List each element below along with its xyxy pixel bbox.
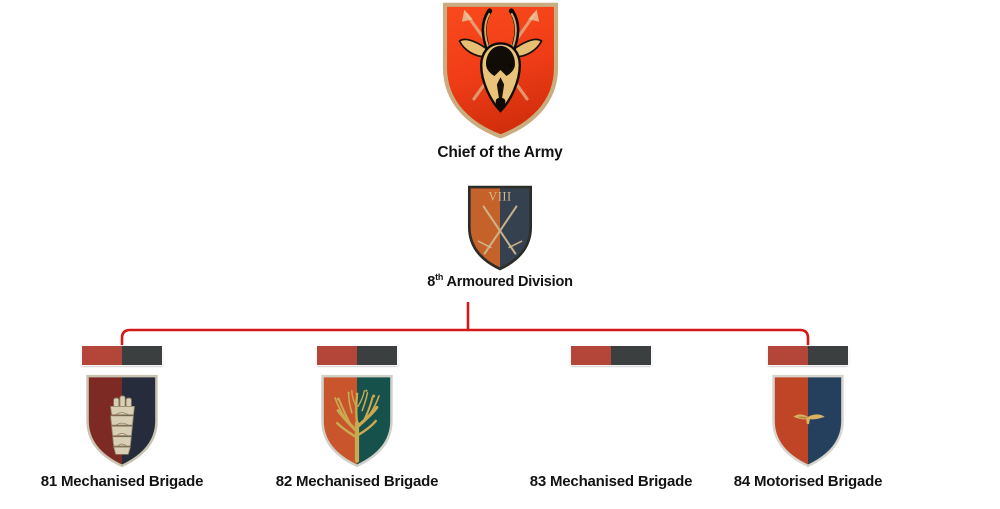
- org-chart: Chief of the Army VIII: [0, 0, 1000, 509]
- chief-of-the-army-badge[interactable]: [438, 0, 563, 140]
- 84-brigade-shield-icon: [767, 373, 849, 469]
- node-chief-of-the-army: Chief of the Army: [0, 0, 1000, 162]
- 83-brigade-bar-icon: [571, 346, 651, 365]
- node-84-motorised-brigade: 84 Motorised Brigade: [693, 345, 923, 490]
- node-82-mechanised-brigade: 82 Mechanised Brigade: [242, 345, 472, 490]
- 82-brigade-shield-icon: [316, 373, 398, 469]
- 8th-armoured-division-label: 8th Armoured Division: [0, 274, 1000, 290]
- 8th-armoured-division-badge[interactable]: VIII: [462, 184, 538, 272]
- 83-mechanised-brigade-label: 83 Mechanised Brigade: [496, 473, 726, 490]
- 84-motorised-brigade-badge[interactable]: [693, 345, 923, 469]
- 81-brigade-shield-icon: [81, 373, 163, 469]
- 83-mechanised-brigade-badge[interactable]: [496, 345, 726, 469]
- 8th-armoured-division-shield-icon: VIII: [462, 184, 538, 272]
- node-81-mechanised-brigade: 81 Mechanised Brigade: [7, 345, 237, 490]
- 81-brigade-bar-icon: [82, 346, 162, 365]
- 81-mechanised-brigade-label: 81 Mechanised Brigade: [7, 473, 237, 490]
- division-roman-numeral: VIII: [488, 189, 511, 203]
- 82-brigade-bar-icon: [317, 346, 397, 365]
- node-8th-armoured-division: VIII 8th Armoured Division: [0, 184, 1000, 290]
- node-83-mechanised-brigade: 83 Mechanised Brigade: [496, 345, 726, 490]
- 82-mechanised-brigade-badge[interactable]: [242, 345, 472, 469]
- chief-of-the-army-shield-icon: [438, 0, 563, 140]
- 81-mechanised-brigade-badge[interactable]: [7, 345, 237, 469]
- 84-motorised-brigade-label: 84 Motorised Brigade: [693, 473, 923, 490]
- 84-brigade-bar-icon: [768, 346, 848, 365]
- 82-mechanised-brigade-label: 82 Mechanised Brigade: [242, 473, 472, 490]
- chief-of-the-army-label: Chief of the Army: [0, 144, 1000, 162]
- brigade-row: 81 Mechanised Brigade: [0, 345, 1000, 509]
